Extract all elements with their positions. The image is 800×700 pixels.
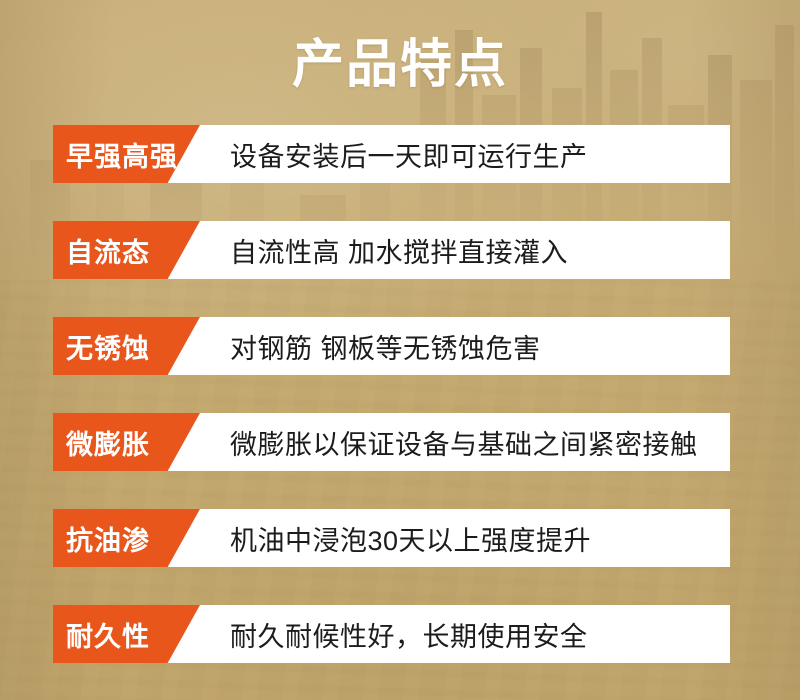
feature-list: 早强高强 设备安装后一天即可运行生产 自流态 自流性高 加水搅拌直接灌入 无锈蚀…	[53, 125, 730, 663]
feature-text-3: 微膨胀以保证设备与基础之间紧密接触	[200, 423, 730, 462]
feature-row: 抗油渗 机油中浸泡30天以上强度提升	[53, 509, 730, 567]
feature-row: 微膨胀 微膨胀以保证设备与基础之间紧密接触	[53, 413, 730, 471]
feature-tag-0: 早强高强	[53, 125, 200, 183]
page-title: 产品特点	[0, 34, 800, 96]
feature-text-2: 对钢筋 钢板等无锈蚀危害	[200, 327, 730, 366]
feature-tag-3: 微膨胀	[53, 413, 200, 471]
feature-text-5: 耐久耐候性好，长期使用安全	[200, 615, 730, 654]
feature-tag-2: 无锈蚀	[53, 317, 200, 375]
feature-row: 无锈蚀 对钢筋 钢板等无锈蚀危害	[53, 317, 730, 375]
feature-tag-1: 自流态	[53, 221, 200, 279]
feature-text-1: 自流性高 加水搅拌直接灌入	[200, 231, 730, 270]
product-features-poster: 产品特点 早强高强 设备安装后一天即可运行生产 自流态 自流性高 加水搅拌直接灌…	[0, 0, 800, 700]
feature-row: 自流态 自流性高 加水搅拌直接灌入	[53, 221, 730, 279]
feature-row: 早强高强 设备安装后一天即可运行生产	[53, 125, 730, 183]
feature-text-4: 机油中浸泡30天以上强度提升	[200, 519, 730, 558]
feature-row: 耐久性 耐久耐候性好，长期使用安全	[53, 605, 730, 663]
feature-text-0: 设备安装后一天即可运行生产	[200, 135, 730, 174]
feature-tag-5: 耐久性	[53, 605, 200, 663]
feature-tag-4: 抗油渗	[53, 509, 200, 567]
